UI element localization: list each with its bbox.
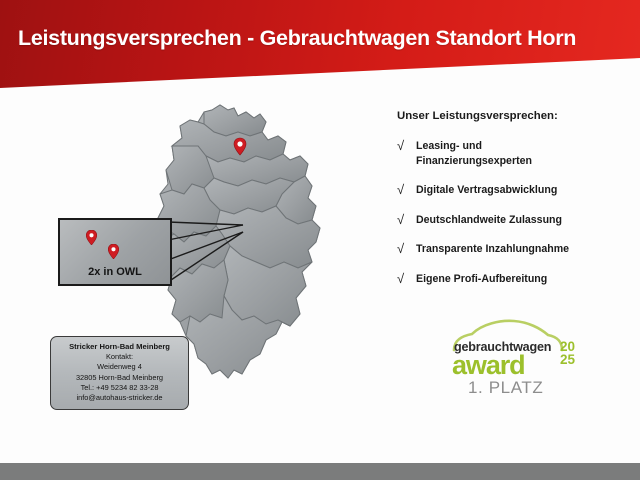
map-area: 2x in OWL Stricker Horn-Bad Meinberg Kon…	[0, 92, 380, 410]
promise-item: √ Transparente Inzahlungnahme	[397, 242, 632, 257]
promise-item-label: Leasing- und Finanzierungsexperten	[416, 139, 532, 168]
contact-street: Weidenweg 4	[54, 362, 185, 372]
check-icon: √	[397, 242, 416, 256]
promise-item-label: Transparente Inzahlungnahme	[416, 242, 569, 257]
contact-city: 32805 Horn-Bad Meinberg	[54, 373, 185, 383]
contact-phone: Tel.: +49 5234 82 33-28	[54, 383, 185, 393]
owl-pin-1	[86, 230, 97, 245]
owl-inset-box: 2x in OWL	[58, 218, 172, 286]
promise-item-label: Eigene Profi-Aufbereitung	[416, 272, 547, 287]
promise-list: Unser Leistungsversprechen: √ Leasing- u…	[397, 110, 632, 301]
slide-root: Leistungsversprechen - Gebrauchtwagen St…	[0, 0, 640, 480]
contact-email[interactable]: info@autohaus-stricker.de	[54, 393, 185, 403]
owl-inset-label: 2x in OWL	[60, 266, 170, 278]
promise-item-label: Digitale Vertragsabwicklung	[416, 183, 557, 198]
contact-label: Kontakt:	[54, 352, 185, 362]
check-icon: √	[397, 183, 416, 197]
page-title: Leistungsversprechen - Gebrauchtwagen St…	[18, 26, 576, 51]
award-year: 20 25	[560, 340, 575, 366]
check-icon: √	[397, 213, 416, 227]
promise-item: √ Digitale Vertragsabwicklung	[397, 183, 632, 198]
award-badge: gebrauchtwagen award 20 25 1. PLATZ	[430, 318, 580, 398]
contact-box: Stricker Horn-Bad Meinberg Kontakt: Weid…	[50, 336, 189, 410]
logo-row: Horn Nutzfahrzeuge Service SKODA Service	[0, 405, 640, 463]
award-main-word: award	[452, 350, 525, 381]
footer-bar	[0, 463, 640, 480]
promise-item-label: Deutschlandweite Zulassung	[416, 213, 562, 228]
contact-name: Stricker Horn-Bad Meinberg	[54, 342, 185, 352]
check-icon: √	[397, 272, 416, 286]
header-banner: Leistungsversprechen - Gebrauchtwagen St…	[0, 0, 640, 92]
promise-item: √ Deutschlandweite Zulassung	[397, 213, 632, 228]
award-year-bottom: 25	[560, 353, 575, 366]
award-rank: 1. PLATZ	[468, 378, 543, 398]
promise-item: √ Eigene Profi-Aufbereitung	[397, 272, 632, 287]
check-icon: √	[397, 139, 416, 153]
owl-pin-2	[108, 244, 119, 259]
promise-list-heading: Unser Leistungsversprechen:	[397, 110, 632, 122]
promise-item: √ Leasing- und Finanzierungsexperten	[397, 139, 632, 168]
